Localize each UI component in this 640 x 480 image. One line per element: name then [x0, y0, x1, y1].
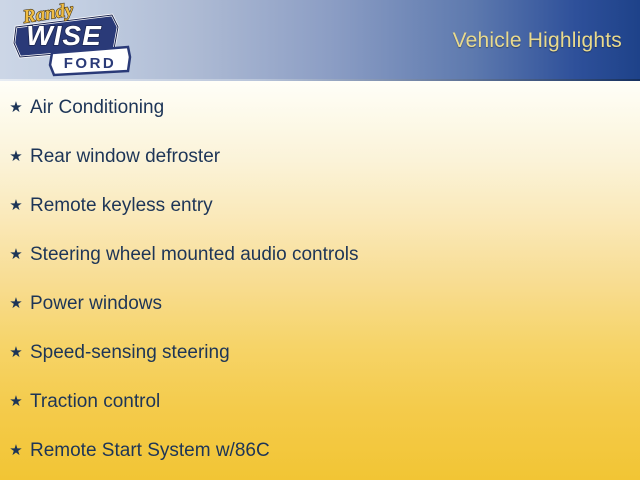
list-item: ★ Remote keyless entry	[0, 181, 640, 230]
highlights-panel: ★ Air Conditioning ★ Rear window defrost…	[0, 81, 640, 480]
randy-wise-ford-logo: WISE FORD Randy	[6, 1, 134, 79]
list-item-label: Speed-sensing steering	[30, 342, 230, 363]
list-item-label: Air Conditioning	[30, 97, 164, 118]
list-item-label: Rear window defroster	[30, 146, 220, 167]
list-item: ★ Steering wheel mounted audio controls	[0, 230, 640, 279]
svg-text:FORD: FORD	[64, 55, 117, 72]
star-icon: ★	[8, 279, 24, 328]
vehicle-highlights-list: ★ Air Conditioning ★ Rear window defrost…	[0, 81, 640, 475]
list-item: ★ Remote Start System w/86C	[0, 426, 640, 475]
page-title: Vehicle Highlights	[453, 29, 622, 53]
star-icon: ★	[8, 181, 24, 230]
star-icon: ★	[8, 83, 24, 132]
list-item-label: Remote Start System w/86C	[30, 440, 270, 461]
list-item-label: Traction control	[30, 391, 160, 412]
star-icon: ★	[8, 426, 24, 475]
list-item: ★ Air Conditioning	[0, 83, 640, 132]
star-icon: ★	[8, 377, 24, 426]
header-banner: WISE FORD Randy Vehicle Highlights	[0, 0, 640, 81]
list-item-label: Steering wheel mounted audio controls	[30, 244, 358, 265]
vehicle-highlights-slide: WISE FORD Randy Vehicle Highlights ★ Air…	[0, 0, 640, 480]
list-item: ★ Power windows	[0, 279, 640, 328]
list-item: ★ Traction control	[0, 377, 640, 426]
star-icon: ★	[8, 328, 24, 377]
list-item-label: Remote keyless entry	[30, 195, 213, 216]
list-item-label: Power windows	[30, 293, 162, 314]
list-item: ★ Speed-sensing steering	[0, 328, 640, 377]
star-icon: ★	[8, 230, 24, 279]
list-item: ★ Rear window defroster	[0, 132, 640, 181]
star-icon: ★	[8, 132, 24, 181]
